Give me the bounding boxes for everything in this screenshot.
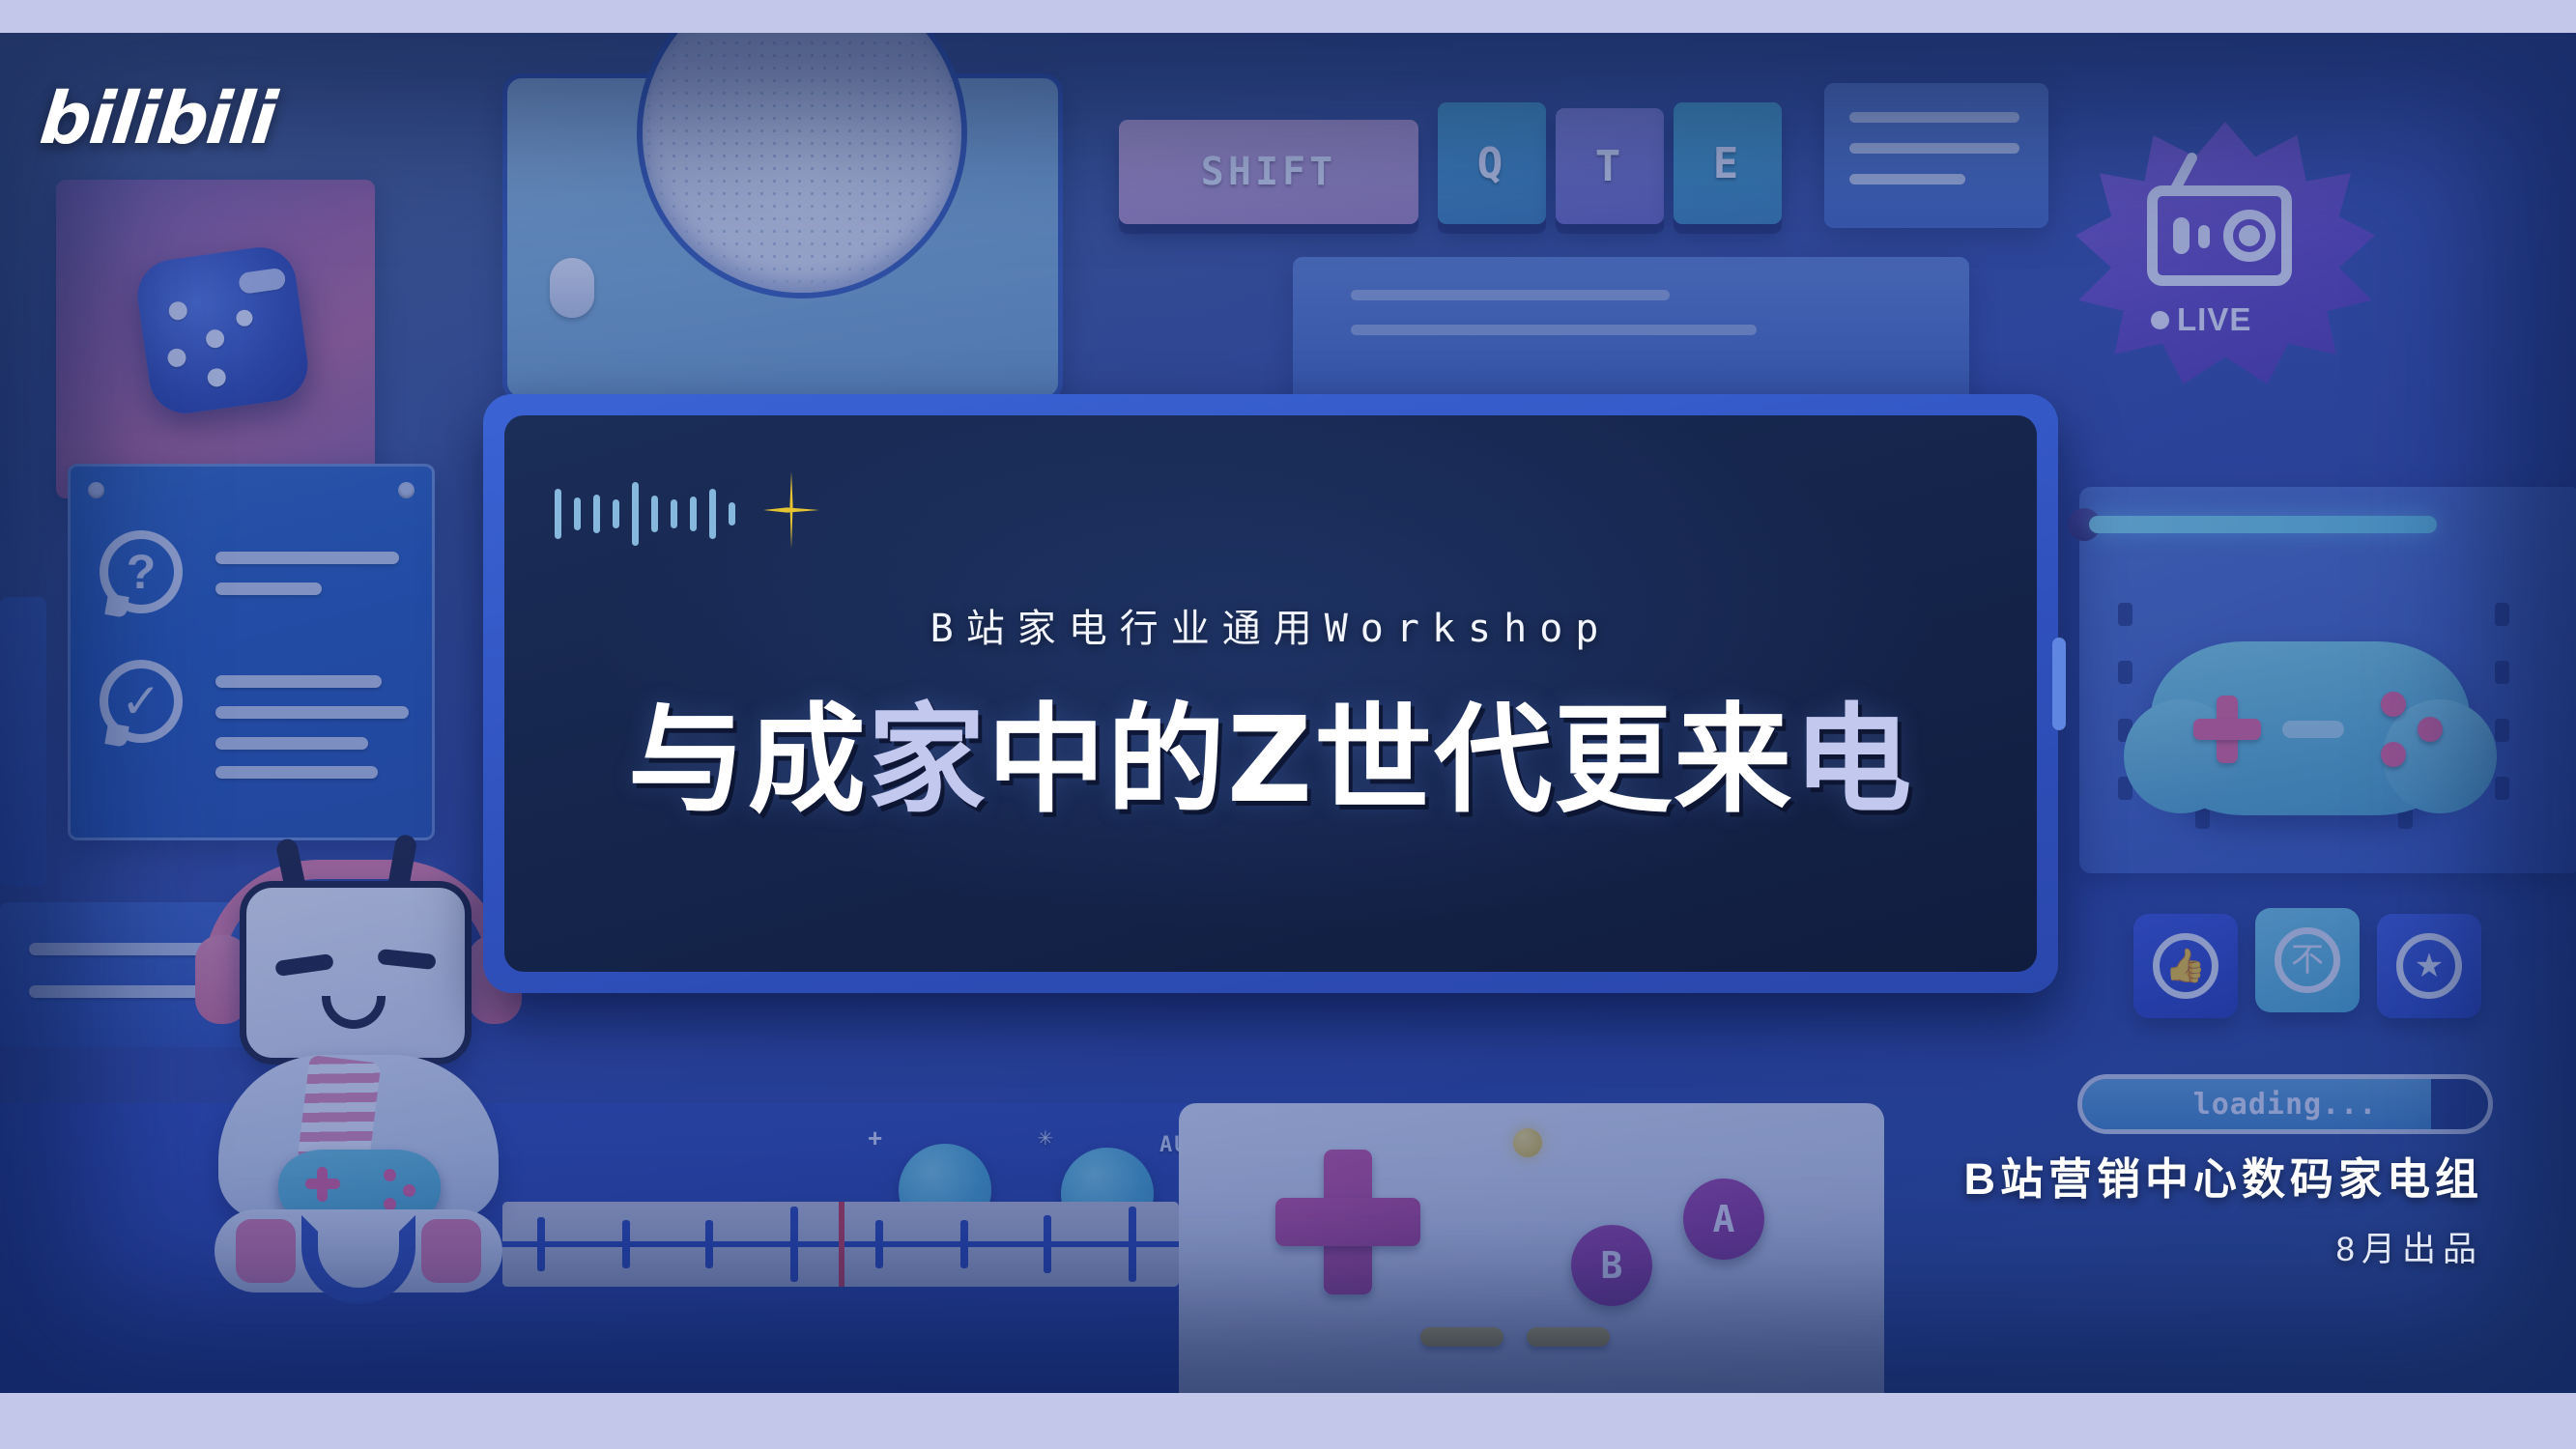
mascot-head: [240, 881, 472, 1065]
coin-tile[interactable]: 不: [2255, 908, 2360, 1012]
poster-stage: ? ✓ SHIFT Q T E: [0, 33, 2576, 1393]
headline-part-2: 家: [868, 692, 987, 829]
credit-team: B站营销中心数码家电组: [1964, 1144, 2484, 1207]
power-led-icon: [1513, 1128, 1542, 1157]
loading-bar: loading...: [2077, 1074, 2493, 1134]
mascot-mouth: [322, 996, 386, 1029]
live-label: LIVE: [2177, 301, 2251, 338]
live-badge: LIVE: [2075, 122, 2375, 392]
slide-canvas: ? ✓ SHIFT Q T E: [0, 0, 2576, 1449]
live-dot-icon: [2151, 311, 2169, 329]
screen-side-nub: [2052, 638, 2066, 730]
tuner-needle: [839, 1202, 844, 1287]
lines-panel-top: [1824, 83, 2048, 228]
panel-screw: [88, 482, 104, 498]
neon-shelf-bar: [2089, 516, 2437, 533]
controller-button-b[interactable]: B: [1571, 1225, 1652, 1306]
main-screen-display: B站家电行业通用Workshop 与成家中的Z世代更来电: [504, 415, 2037, 972]
favorite-tile[interactable]: ★: [2377, 914, 2481, 1018]
dpad-icon[interactable]: [2193, 696, 2261, 763]
headline-part-4: 电: [1793, 692, 1913, 829]
headline-part-1: 与成: [628, 692, 868, 829]
bilibili-logo: bilibili: [36, 77, 278, 160]
controller-dpad[interactable]: [1275, 1150, 1420, 1294]
loading-label: loading...: [2082, 1079, 2488, 1129]
screen-kicker: B站家电行业通用Workshop: [504, 597, 2037, 653]
waveform-icon: [555, 475, 735, 553]
volume-plus-label: +: [868, 1123, 882, 1153]
gamepad-button-1[interactable]: [2381, 692, 2406, 717]
sparkle-icon: [763, 471, 819, 549]
retro-controller: B A: [1179, 1103, 1884, 1393]
mascot-sock-right: [421, 1219, 481, 1283]
star-icon: ★: [2396, 933, 2462, 999]
key-e[interactable]: E: [1674, 102, 1782, 224]
speaker-module: [502, 73, 1063, 402]
credit-date: 8月出品: [1964, 1222, 2484, 1271]
live-label-row: LIVE: [2151, 301, 2251, 338]
question-bubble-icon: ?: [100, 530, 183, 613]
controller-select-button[interactable]: [1420, 1327, 1503, 1347]
keyboard-keys: SHIFT Q T E: [1119, 83, 1795, 238]
thumbs-up-icon: 👍: [2153, 933, 2218, 999]
mascot-sock-left: [236, 1219, 296, 1283]
gamepad-button-2[interactable]: [2418, 717, 2443, 742]
left-strip: [0, 597, 46, 887]
key-shift[interactable]: SHIFT: [1119, 120, 1418, 224]
bilibili-mascot: [189, 831, 528, 1333]
speaker-grille-icon: [643, 33, 961, 293]
speaker-button[interactable]: [550, 258, 594, 318]
check-bubble-icon: ✓: [100, 660, 183, 743]
panel-screw: [398, 482, 415, 498]
dice-prop: [133, 242, 313, 417]
lines-panel-mid: [1293, 257, 1969, 404]
gamepad-select-bar[interactable]: [2282, 721, 2344, 738]
like-tile[interactable]: 👍: [2133, 914, 2238, 1018]
page-title: 与成家中的Z世代更来电: [504, 665, 2037, 836]
coin-icon: 不: [2275, 927, 2340, 993]
headline-part-3: 中的Z世代更来: [987, 692, 1793, 829]
gamepad-prop: [2151, 641, 2470, 815]
gamepad-button-3[interactable]: [2381, 742, 2406, 767]
credit-block: B站营销中心数码家电组 8月出品: [1964, 1144, 2484, 1271]
controller-start-button[interactable]: [1527, 1327, 1610, 1347]
bluetooth-icon: ✳: [1038, 1122, 1055, 1151]
qa-panel: ? ✓: [68, 464, 435, 840]
key-q[interactable]: Q: [1438, 102, 1546, 224]
main-screen-panel: B站家电行业通用Workshop 与成家中的Z世代更来电: [483, 394, 2058, 993]
tuner-dial[interactable]: [502, 1202, 1179, 1287]
controller-button-a[interactable]: A: [1683, 1179, 1764, 1260]
tv-icon: [2147, 185, 2292, 286]
key-t[interactable]: T: [1556, 108, 1664, 224]
